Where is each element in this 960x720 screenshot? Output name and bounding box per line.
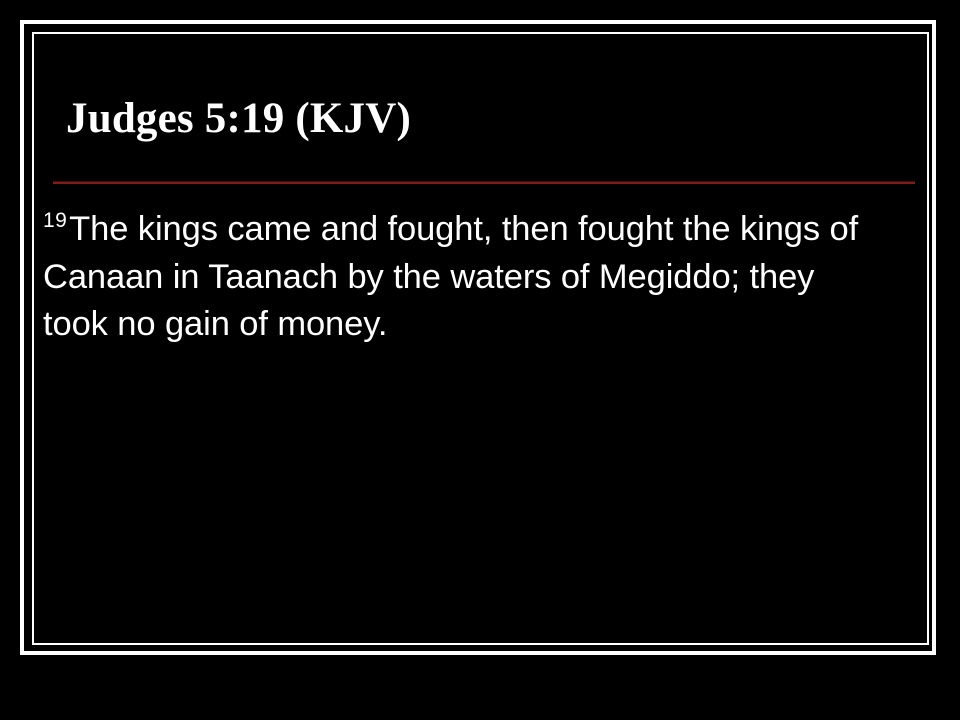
slide-title: Judges 5:19 (KJV) [66,96,411,141]
title-divider-rule [53,181,915,184]
verse-text: The kings came and fought, then fought t… [43,210,858,343]
slide-content-area: Judges 5:19 (KJV) 19The kings came and f… [34,34,927,643]
verse-body-text: 19The kings came and fought, then fought… [43,197,883,349]
verse-number: 19 [43,209,69,232]
presentation-slide: Judges 5:19 (KJV) 19The kings came and f… [0,0,960,720]
